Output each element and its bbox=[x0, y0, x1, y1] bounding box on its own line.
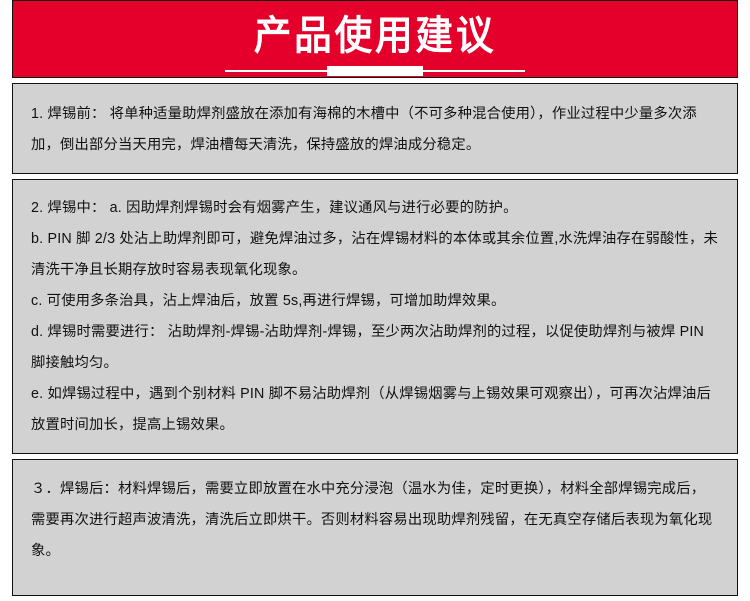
section-after-soldering: ３．焊锡后：材料焊锡后，需要立即放置在水中充分浸泡（温水为佳，定时更换），材料全… bbox=[12, 459, 738, 596]
section-paragraph: 2. 焊锡中： a. 因助焊剂焊锡时会有烟雾产生，建议通风与进行必要的防护。 bbox=[31, 193, 719, 224]
section-before-soldering: 1. 焊锡前： 将单种适量助焊剂盛放在添加有海棉的木槽中（不可多种混合使用），作… bbox=[12, 83, 738, 174]
section-paragraph: d. 焊锡时需要进行： 沾助焊剂-焊锡-沾助焊剂-焊锡，至少两次沾助焊剂的过程，… bbox=[31, 317, 719, 379]
section-paragraph: ３．焊锡后：材料焊锡后，需要立即放置在水中充分浸泡（温水为佳，定时更换），材料全… bbox=[31, 474, 719, 567]
header-banner: 产品使用建议 ATTENTION TO PRODUCT USE bbox=[12, 0, 738, 78]
page-title: 产品使用建议 bbox=[254, 14, 497, 58]
section-paragraph: e. 如焊锡过程中，遇到个别材料 PIN 脚不易沾助焊剂（从焊锡烟雾与上锡效果可… bbox=[31, 379, 719, 441]
section-during-soldering: 2. 焊锡中： a. 因助焊剂焊锡时会有烟雾产生，建议通风与进行必要的防护。 b… bbox=[12, 179, 738, 454]
section-paragraph: 1. 焊锡前： 将单种适量助焊剂盛放在添加有海棉的木槽中（不可多种混合使用），作… bbox=[31, 99, 719, 161]
section-paragraph: b. PIN 脚 2/3 处沾上助焊剂即可，避免焊油过多，沾在焊锡材料的本体或其… bbox=[31, 224, 719, 286]
product-use-instructions-page: 产品使用建议 ATTENTION TO PRODUCT USE 1. 焊锡前： … bbox=[0, 0, 750, 601]
content-area: 1. 焊锡前： 将单种适量助焊剂盛放在添加有海棉的木槽中（不可多种混合使用），作… bbox=[12, 78, 738, 601]
section-paragraph: c. 可使用多条治具，沾上焊油后，放置 5s,再进行焊锡，可增加助焊效果。 bbox=[31, 286, 719, 317]
page-subtitle: ATTENTION TO PRODUCT USE bbox=[266, 75, 483, 78]
